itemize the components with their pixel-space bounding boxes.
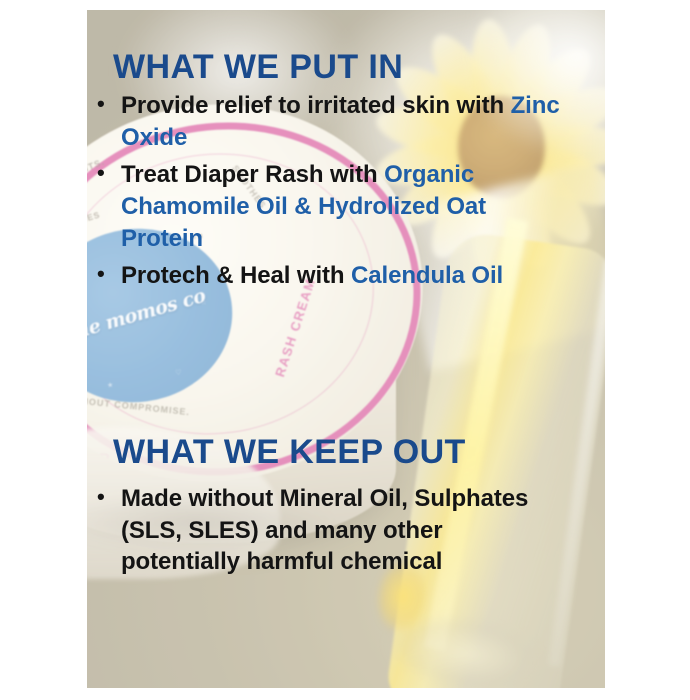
bullet-text-plain: Made without Mineral Oil, Sulphates (SLS…	[121, 485, 528, 575]
list-item: Protech & Heal with Calendula Oil	[95, 260, 565, 292]
bullet-text-plain: Protech & Heal with	[121, 262, 351, 289]
infographic-text-overlay: WHAT WE PUT IN Provide relief to irritat…	[0, 0, 690, 700]
infographic-canvas: RELIEF. PREVENTS. SOOTHES FOR BABIES ✶ T…	[0, 0, 690, 700]
benefits-list-put-in: Provide relief to irritated skin with Zi…	[95, 90, 565, 298]
benefits-list-keep-out: Made without Mineral Oil, Sulphates (SLS…	[95, 483, 565, 584]
page-title-what-we-keep-out: WHAT WE KEEP OUT	[113, 435, 466, 469]
bullet-text-plain: Provide relief to irritated skin with	[121, 92, 511, 119]
list-item: Treat Diaper Rash with Organic Chamomile…	[95, 159, 565, 254]
list-item: Provide relief to irritated skin with Zi…	[95, 90, 565, 153]
bullet-text-accent: Calendula Oil	[351, 262, 503, 289]
page-title-what-we-put-in: WHAT WE PUT IN	[113, 50, 403, 84]
bullet-text-plain: Treat Diaper Rash with	[121, 161, 384, 188]
list-item: Made without Mineral Oil, Sulphates (SLS…	[95, 483, 565, 578]
